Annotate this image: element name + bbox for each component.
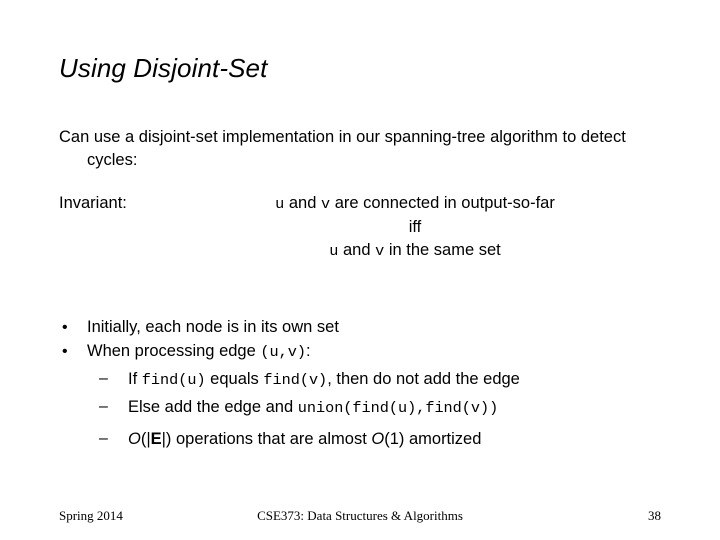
bullet-dash-icon: – [99,396,108,418]
sub-bullet-3-big-o-1: O [128,430,141,448]
sub-bullet-3-text-post: (1) amortized [384,430,481,448]
list-item: –Else add the edge and union(find(u),fin… [97,396,664,419]
footer-page-number: 38 [0,508,661,524]
list-item: –If find(u) equals find(v), then do not … [97,368,664,391]
list-item: •Initially, each node is in its own set [59,316,664,339]
invariant-block: Invariant: u and v are connected in outp… [59,192,664,278]
invariant-line3-post: in the same set [384,241,500,259]
sub-bullet-1-text-pre: If [128,370,142,388]
bullet-dash-icon: – [99,428,108,450]
slide-body: Can use a disjoint-set implementation in… [59,126,664,455]
sub-bullet-3-edge-symbol: E [151,430,162,448]
invariant-line1-post: are connected in output-so-far [330,194,555,212]
slide-footer: Spring 2014 CSE373: Data Structures & Al… [0,508,720,530]
invariant-line1-var-u: u [275,195,284,213]
invariant-line3-mid: and [338,241,375,259]
invariant-label: Invariant: [59,192,127,215]
sub-bullet-1-text-post: , then do not add the edge [327,370,520,388]
sub-bullet-1-text-mid: equals [206,370,264,388]
invariant-line1-mid: and [284,194,321,212]
bullet-dash-icon: – [99,368,108,390]
bullet-list-level-2: –If find(u) equals find(v), then do not … [87,368,664,450]
invariant-line-1: u and v are connected in output-so-far [205,192,625,216]
sub-bullet-3-text-mid: operations that are almost [171,430,371,448]
bullet-list-level-1: •Initially, each node is in its own set … [59,316,664,450]
invariant-line-2-iff: iff [205,216,625,239]
invariant-line-3: u and v in the same set [205,239,625,263]
sub-bullet-2-text-pre: Else add the edge and [128,398,298,416]
bullet-dot-icon: • [62,340,68,363]
sub-bullet-3-paren-close: |) [162,430,172,448]
bullet-2-text-pre: When processing edge [87,342,260,360]
list-item: •When processing edge (u,v): –If find(u)… [59,340,664,450]
bullet-dot-icon: • [62,316,68,339]
intro-paragraph: Can use a disjoint-set implementation in… [59,126,627,172]
invariant-line1-var-v: v [321,195,330,213]
sub-bullet-1-code-find-v: find(v) [263,371,327,389]
bullet-2-code-edge: (u,v) [260,343,306,361]
sub-bullet-3-paren-open: (| [141,430,151,448]
bullet-2-text-post: : [306,342,311,360]
page-title: Using Disjoint-Set [59,52,669,84]
slide-canvas: Using Disjoint-Set Can use a disjoint-se… [0,0,720,540]
sub-bullet-2-code-union: union(find(u),find(v)) [298,399,499,417]
sub-bullet-1-code-find-u: find(u) [142,371,206,389]
invariant-line3-var-v: v [375,242,384,260]
bullet-1-text: Initially, each node is in its own set [87,318,339,336]
list-item: –O(|E|) operations that are almost O(1) … [97,428,664,450]
sub-bullet-3-big-o-2: O [371,430,384,448]
invariant-clause-lines: u and v are connected in output-so-far i… [205,192,625,263]
